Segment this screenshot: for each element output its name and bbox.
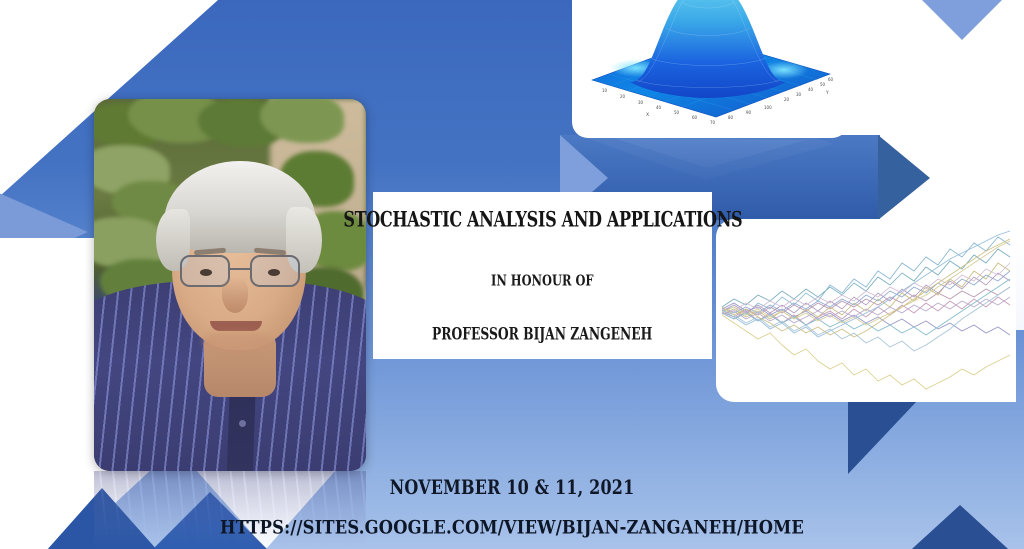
portrait-eye-right xyxy=(268,269,280,276)
glasses-lens-left xyxy=(180,255,230,287)
conference-poster: 1020 3040 5060 7080 90100 2030 4050 60 X… xyxy=(0,0,1024,549)
glasses-bridge xyxy=(230,268,252,270)
svg-text:50: 50 xyxy=(674,110,680,115)
portrait-button xyxy=(239,420,246,427)
svg-text:100: 100 xyxy=(764,105,772,110)
glasses-lens-right xyxy=(250,255,300,287)
portrait-eye-left xyxy=(200,269,212,276)
svg-text:40: 40 xyxy=(808,87,814,92)
svg-text:30: 30 xyxy=(638,100,644,105)
svg-text:40: 40 xyxy=(656,105,662,110)
svg-text:50: 50 xyxy=(820,82,826,87)
svg-text:60: 60 xyxy=(692,115,698,120)
portrait-nose xyxy=(222,277,248,313)
svg-text:Y: Y xyxy=(825,90,829,96)
portrait-mouth xyxy=(210,321,262,331)
poster-title: STOCHASTIC ANALYSIS AND APPLICATIONS xyxy=(343,208,742,232)
title-card: STOCHASTIC ANALYSIS AND APPLICATIONS IN … xyxy=(373,192,712,359)
svg-text:30: 30 xyxy=(796,92,802,97)
event-url[interactable]: HTTPS://SITES.GOOGLE.COM/VIEW/BIJAN-ZANG… xyxy=(20,517,1003,539)
portrait-chin xyxy=(202,331,272,353)
surface-plot-card: 1020 3040 5060 7080 90100 2030 4050 60 X… xyxy=(572,0,848,138)
bg-chevron-bottom-right-1 xyxy=(848,400,918,474)
svg-text:20: 20 xyxy=(620,94,626,99)
svg-text:X: X xyxy=(646,112,649,118)
svg-text:20: 20 xyxy=(784,97,790,102)
portrait-photo xyxy=(94,99,366,471)
svg-text:70: 70 xyxy=(710,120,716,125)
bg-blue-band-tip xyxy=(878,135,930,220)
svg-text:90: 90 xyxy=(746,110,752,115)
svg-text:80: 80 xyxy=(728,115,734,120)
brownian-paths-figure xyxy=(716,219,1016,402)
event-date: NOVEMBER 10 & 11, 2021 xyxy=(31,477,994,500)
brownian-paths-card xyxy=(716,219,1016,402)
surface-plot-figure: 1020 3040 5060 7080 90100 2030 4050 60 X… xyxy=(578,0,844,130)
honour-line: IN HONOUR OF xyxy=(491,273,594,291)
svg-text:10: 10 xyxy=(602,88,608,93)
bg-chevron-top-right xyxy=(900,0,1024,40)
honouree-name: PROFESSOR BIJAN ZANGENEH xyxy=(432,326,652,345)
svg-text:60: 60 xyxy=(828,77,834,82)
